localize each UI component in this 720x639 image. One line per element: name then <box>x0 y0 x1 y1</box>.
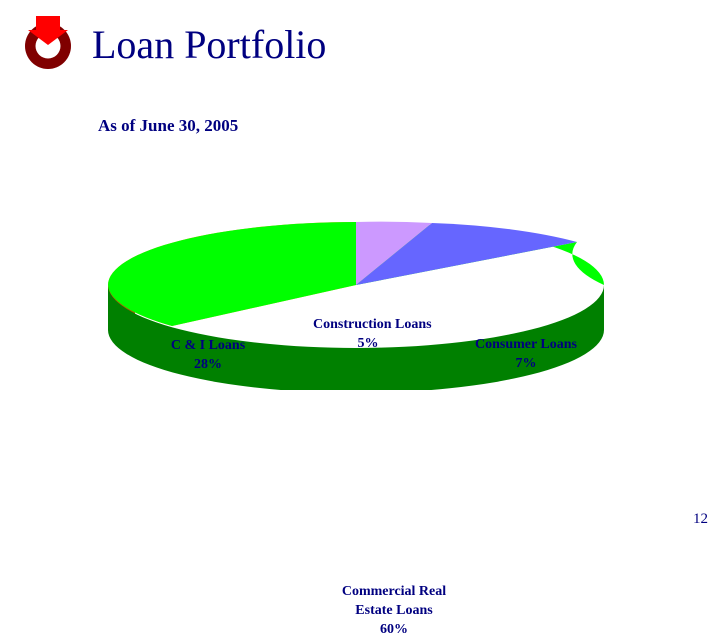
loan-portfolio-pie-chart: C & I Loans 28% Construction Loans 5% Co… <box>0 150 720 500</box>
label-cre-percent: 60% <box>380 622 408 637</box>
label-ci-percent: 28% <box>194 357 222 372</box>
page-number: 12 <box>693 511 708 528</box>
label-construction-name: Construction Loans <box>313 317 432 332</box>
label-consumer-name: Consumer Loans <box>475 337 577 352</box>
label-commercial-real-estate-loans: Commercial Real Estate Loans 60% <box>304 582 484 639</box>
label-cre-name-line1: Commercial Real <box>342 584 446 599</box>
bank-logo-icon <box>16 14 80 78</box>
as-of-date-subtitle: As of June 30, 2005 <box>98 116 238 136</box>
page-title: Loan Portfolio <box>92 22 326 68</box>
label-consumer-percent: 7% <box>516 356 537 371</box>
label-cre-name-line2: Estate Loans <box>355 603 432 618</box>
label-construction-percent: 5% <box>313 334 423 353</box>
label-ci-name: C & I Loans <box>171 338 245 353</box>
label-consumer-loans: Consumer Loans 7% <box>450 335 602 373</box>
slide-canvas: Loan Portfolio As of June 30, 2005 <box>0 0 720 540</box>
label-ci-loans: C & I Loans 28% <box>148 336 268 374</box>
